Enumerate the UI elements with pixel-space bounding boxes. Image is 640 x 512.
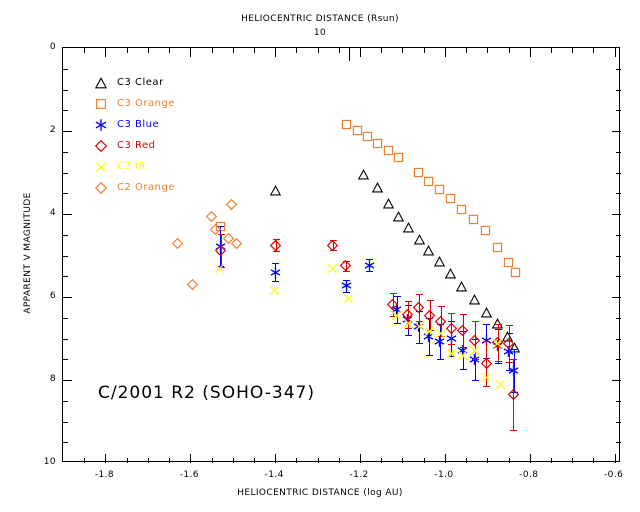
- y-tick-label: 10: [30, 457, 56, 467]
- data-point: [510, 267, 521, 278]
- data-point: [435, 328, 446, 339]
- legend-item-label: C3 Blue: [117, 120, 159, 130]
- y-tick-right: [616, 422, 621, 423]
- data-point: [270, 185, 281, 196]
- data-point: [270, 267, 281, 278]
- y-tick-right: [616, 193, 621, 194]
- data-point: [456, 204, 467, 215]
- error-bar-cap: [273, 251, 280, 252]
- data-point: [456, 281, 467, 292]
- diamond-marker-icon: [95, 179, 117, 197]
- x-tick-label: -1.6: [180, 470, 199, 480]
- x-tick-top: [148, 48, 149, 53]
- y-axis-title: APPARENT V MAGNITUDE: [23, 163, 33, 343]
- data-point: [423, 176, 434, 187]
- x-tick-top: [254, 48, 255, 53]
- y-tick-right: [612, 214, 621, 215]
- y-tick-left: [63, 256, 68, 257]
- y-tick-left: [63, 69, 68, 70]
- y-tick-left: [63, 110, 68, 111]
- y-tick-right: [616, 318, 621, 319]
- x-tick-bottom: [509, 458, 510, 463]
- data-point: [457, 325, 468, 336]
- x-tick-top: [530, 48, 531, 57]
- data-point: [210, 224, 221, 235]
- error-bar-cap: [438, 306, 445, 307]
- y-tick-left: [63, 359, 68, 360]
- y-tick-right: [616, 401, 621, 402]
- data-point: [424, 310, 435, 321]
- x-tick-top: [275, 48, 276, 57]
- x-tick-top: [445, 48, 446, 57]
- y-tick-right: [616, 256, 621, 257]
- error-bar-cap: [495, 363, 502, 364]
- data-point: [352, 125, 363, 136]
- y-tick-left: [63, 318, 68, 319]
- data-point: [508, 389, 519, 400]
- data-point: [492, 242, 503, 253]
- data-point: [327, 263, 338, 274]
- y-tick-right: [616, 359, 621, 360]
- x-tick-bottom: [402, 458, 403, 463]
- data-point: [434, 256, 445, 267]
- y-tick-left: [63, 297, 72, 298]
- legend-item-label: C3 IR: [117, 162, 146, 172]
- error-bar-cap: [460, 369, 467, 370]
- data-point: [226, 199, 237, 210]
- data-point: [424, 326, 435, 337]
- data-point: [492, 338, 503, 349]
- x-tick-label: -1.2: [349, 470, 368, 480]
- x-tick-top: [318, 48, 319, 53]
- y-tick-right: [612, 131, 621, 132]
- error-bar-cap: [472, 359, 479, 360]
- data-point: [343, 293, 354, 304]
- legend-item-label: C3 Orange: [117, 99, 175, 109]
- x-tick-top: [424, 48, 425, 53]
- legend-item: C3 Clear: [95, 72, 175, 93]
- x-tick-bottom: [296, 458, 297, 463]
- x-tick-bottom: [551, 458, 552, 463]
- data-point: [481, 307, 492, 318]
- data-point: [495, 379, 506, 390]
- x-tick-top: [593, 48, 594, 53]
- y-tick-right: [616, 90, 621, 91]
- x-tick-bottom: [487, 458, 488, 463]
- data-point: [391, 310, 402, 321]
- data-point: [403, 318, 414, 329]
- x-tick-bottom: [275, 454, 276, 463]
- x-tick-top: [105, 48, 106, 57]
- x-tick-bottom: [127, 458, 128, 463]
- y-tick-left: [63, 339, 68, 340]
- data-point: [231, 238, 242, 249]
- x-tick-top: [212, 48, 213, 53]
- error-bar-cap: [483, 341, 490, 342]
- x-tick-top: [233, 48, 234, 53]
- error-bar-cap: [390, 293, 397, 294]
- y-tick-left: [63, 380, 72, 381]
- error-bar-cap: [510, 430, 517, 431]
- x-tick-bottom: [190, 454, 191, 463]
- y-tick-left: [63, 401, 68, 402]
- error-bar-cap: [416, 294, 423, 295]
- data-point: [469, 294, 480, 305]
- x-tick-bottom: [615, 454, 616, 463]
- error-bar-cap: [483, 324, 490, 325]
- error-bar-cap: [405, 335, 412, 336]
- asterisk-marker-icon: [95, 116, 117, 134]
- y-tick-left: [63, 131, 72, 132]
- y-tick-label: 4: [30, 208, 56, 218]
- legend-item: C3 Orange: [95, 93, 175, 114]
- error-bar-cap: [272, 263, 279, 264]
- x-tick-top: [466, 48, 467, 53]
- x-tick-top: [360, 48, 361, 57]
- y-tick-left: [63, 442, 68, 443]
- data-point: [468, 214, 479, 225]
- legend-item: C3 Red: [95, 135, 175, 156]
- data-point: [393, 152, 404, 163]
- data-point: [481, 372, 492, 383]
- data-point: [206, 211, 217, 222]
- x-tick-label: -0.8: [519, 470, 538, 480]
- x-tick-top: [572, 48, 573, 53]
- data-point: [446, 323, 457, 334]
- x-tick-top: [84, 48, 85, 53]
- legend-item-label: C2 Orange: [117, 183, 175, 193]
- data-point: [383, 198, 394, 209]
- error-bar-cap: [506, 362, 513, 363]
- cross-marker-icon: [95, 158, 117, 176]
- top-axis-major-tick: [349, 48, 350, 61]
- data-point: [423, 245, 434, 256]
- y-tick-right: [616, 173, 621, 174]
- top-axis-title: HELIOCENTRIC DISTANCE (Rsun): [0, 14, 640, 24]
- x-tick-bottom: [530, 454, 531, 463]
- x-tick-top: [127, 48, 128, 53]
- x-tick-top: [296, 48, 297, 53]
- y-tick-label: 6: [30, 291, 56, 301]
- error-bar-cap: [448, 313, 455, 314]
- x-tick-bottom: [148, 458, 149, 463]
- x-tick-bottom: [339, 458, 340, 463]
- data-point: [215, 245, 226, 256]
- data-point: [387, 299, 398, 310]
- x-tick-bottom: [84, 458, 85, 463]
- y-tick-right: [612, 380, 621, 381]
- data-point: [393, 211, 404, 222]
- top-axis-tick-label: 10: [0, 28, 640, 38]
- legend-item: C3 IR: [95, 156, 175, 177]
- data-point: [445, 193, 456, 204]
- data-point: [372, 182, 383, 193]
- data-point: [469, 345, 480, 356]
- data-point: [403, 222, 414, 233]
- data-point: [341, 280, 352, 291]
- x-tick-label: -1.8: [95, 470, 114, 480]
- error-bar-cap: [510, 359, 517, 360]
- error-bar-cap: [460, 314, 467, 315]
- legend-item-label: C3 Clear: [117, 78, 164, 88]
- x-tick-bottom: [169, 458, 170, 463]
- y-tick-left: [63, 90, 68, 91]
- diamond-marker-icon: [95, 137, 117, 155]
- error-bar-cap: [427, 300, 434, 301]
- x-axis-title: HELIOCENTRIC DISTANCE (log AU): [0, 488, 640, 498]
- data-point: [457, 350, 468, 361]
- x-tick-top: [402, 48, 403, 53]
- error-bar-cap: [272, 281, 279, 282]
- data-point: [327, 240, 338, 251]
- x-tick-top: [381, 48, 382, 53]
- data-point: [364, 260, 375, 271]
- data-point: [269, 285, 280, 296]
- x-tick-top: [169, 48, 170, 53]
- triangle-marker-icon: [95, 74, 117, 92]
- x-tick-top: [509, 48, 510, 53]
- data-point: [446, 348, 457, 359]
- y-tick-left: [63, 173, 68, 174]
- data-point: [435, 316, 446, 327]
- y-tick-right: [616, 152, 621, 153]
- y-tick-right: [616, 110, 621, 111]
- x-tick-top: [615, 48, 616, 57]
- y-tick-label: 0: [30, 42, 56, 52]
- data-point: [413, 167, 424, 178]
- legend-item: C2 Orange: [95, 177, 175, 198]
- data-point: [480, 225, 491, 236]
- error-bar-cap: [405, 301, 412, 302]
- x-tick-top: [551, 48, 552, 53]
- data-point: [445, 268, 456, 279]
- y-tick-label: 8: [30, 374, 56, 384]
- x-tick-bottom: [593, 458, 594, 463]
- error-bar-cap: [460, 347, 467, 348]
- x-tick-bottom: [233, 458, 234, 463]
- error-bar-cap: [495, 361, 502, 362]
- x-tick-bottom: [254, 458, 255, 463]
- error-bar-cap: [472, 321, 479, 322]
- x-tick-bottom: [212, 458, 213, 463]
- error-bar-cap: [483, 386, 490, 387]
- y-tick-left: [63, 276, 68, 277]
- error-bar-cap: [437, 359, 444, 360]
- data-point: [414, 234, 425, 245]
- x-tick-bottom: [424, 458, 425, 463]
- x-tick-bottom: [318, 458, 319, 463]
- error-bar-cap: [366, 271, 373, 272]
- y-tick-left: [63, 235, 68, 236]
- data-point: [214, 263, 225, 274]
- x-tick-label: -0.6: [604, 470, 623, 480]
- data-point: [270, 240, 281, 251]
- legend-item: C3 Blue: [95, 114, 175, 135]
- x-tick-bottom: [445, 454, 446, 463]
- error-bar-cap: [448, 344, 455, 345]
- y-tick-right: [616, 276, 621, 277]
- legend-item-label: C3 Red: [117, 141, 156, 151]
- square-marker-icon: [95, 95, 117, 113]
- error-bar-cap: [511, 349, 518, 350]
- x-tick-top: [190, 48, 191, 57]
- y-tick-right: [616, 235, 621, 236]
- data-point: [413, 302, 424, 313]
- x-tick-top: [339, 48, 340, 53]
- x-tick-bottom: [466, 458, 467, 463]
- error-bar-cap: [495, 324, 502, 325]
- x-tick-top: [487, 48, 488, 53]
- error-bar-cap: [426, 355, 433, 356]
- error-bar-cap: [506, 325, 513, 326]
- data-point: [172, 238, 183, 249]
- data-point: [434, 184, 445, 195]
- data-point: [481, 358, 492, 369]
- data-point: [187, 279, 198, 290]
- x-tick-label: -1.0: [434, 470, 453, 480]
- y-tick-right: [616, 339, 621, 340]
- x-tick-label: -1.4: [265, 470, 284, 480]
- data-point: [503, 338, 514, 349]
- data-point: [358, 169, 369, 180]
- y-tick-left: [63, 152, 68, 153]
- y-tick-right: [612, 297, 621, 298]
- legend: C3 ClearC3 OrangeC3 BlueC3 RedC3 IRC2 Or…: [95, 72, 175, 198]
- y-tick-left: [63, 193, 68, 194]
- error-bar-cap: [394, 323, 401, 324]
- error-bar-cap: [416, 343, 423, 344]
- y-tick-left: [63, 422, 68, 423]
- x-tick-bottom: [105, 454, 106, 463]
- y-tick-left: [63, 214, 72, 215]
- y-tick-right: [616, 69, 621, 70]
- data-point: [469, 335, 480, 346]
- y-tick-right: [616, 442, 621, 443]
- x-tick-bottom: [360, 454, 361, 463]
- x-tick-bottom: [381, 458, 382, 463]
- plot-canvas: HELIOCENTRIC DISTANCE (Rsun) 10 HELIOCEN…: [0, 0, 640, 512]
- error-bar-cap: [472, 380, 479, 381]
- data-point: [340, 260, 351, 271]
- error-bar-cap: [394, 296, 401, 297]
- x-tick-bottom: [572, 458, 573, 463]
- y-tick-label: 2: [30, 125, 56, 135]
